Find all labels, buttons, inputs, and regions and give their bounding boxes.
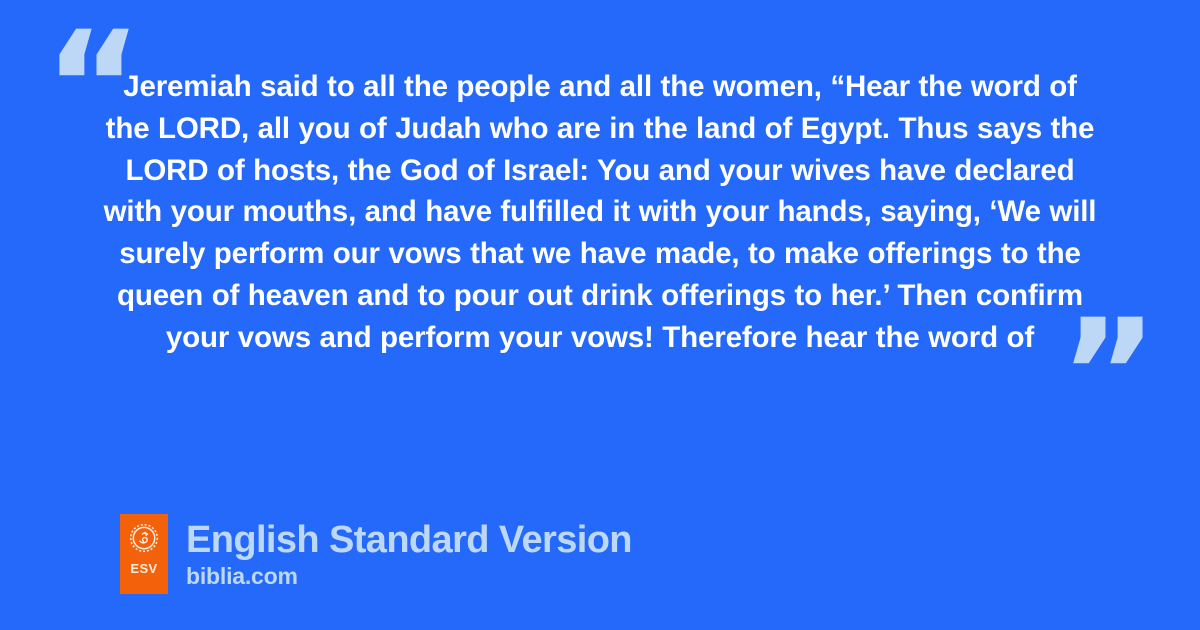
- footer-text-group: English Standard Version biblia.com: [186, 519, 632, 589]
- translation-name: English Standard Version: [186, 519, 632, 561]
- site-url: biblia.com: [186, 563, 632, 589]
- footer-attribution: ESV English Standard Version biblia.com: [120, 514, 632, 594]
- bible-verse-card: “ Jeremiah said to all the people and al…: [0, 0, 1200, 630]
- esv-logo-label: ESV: [130, 562, 157, 575]
- esv-logo-badge: ESV: [120, 514, 168, 594]
- verse-text: Jeremiah said to all the people and all …: [100, 66, 1100, 359]
- esv-seal-icon: [129, 523, 159, 553]
